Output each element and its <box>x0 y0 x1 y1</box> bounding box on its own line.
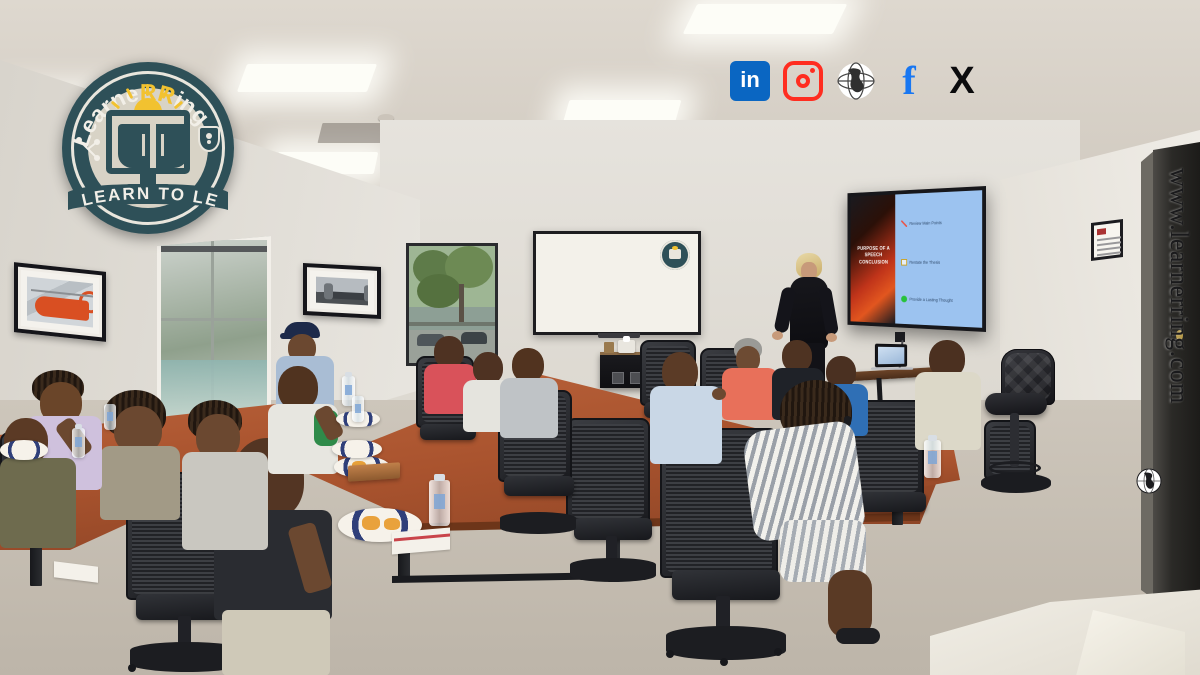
cabinet-bin <box>612 372 624 384</box>
stool-seat <box>985 393 1047 415</box>
bottle-cap <box>928 435 937 441</box>
network-node-icon <box>75 136 101 164</box>
stool-base <box>981 473 1051 493</box>
laptop[interactable] <box>871 344 911 372</box>
chair-base <box>500 512 576 534</box>
monitor-book-icon <box>106 110 190 174</box>
water-bottle <box>72 428 85 458</box>
presentation-display[interactable]: PURPOSE OF A SPEECH CONCLUSION Review Ma… <box>847 186 986 332</box>
bottle-cap <box>345 372 352 377</box>
sun-ray <box>146 84 149 96</box>
student <box>650 352 722 462</box>
tissue-box <box>618 340 635 353</box>
website-url-watermark: www.learnerring.com <box>1164 168 1194 404</box>
social-icon-bar: in f X <box>730 55 982 107</box>
svg-text:LEARN TO LEAD: LEARN TO LEAD <box>68 170 221 211</box>
bottle-cap <box>75 424 82 429</box>
document-icon <box>901 259 907 266</box>
x-icon[interactable]: X <box>942 61 982 101</box>
food-item <box>362 516 380 530</box>
student <box>0 418 78 548</box>
food-item <box>384 518 400 530</box>
instagram-icon[interactable] <box>783 61 823 101</box>
logo-tagline: LEARN TO LEAD <box>68 170 221 211</box>
water-bottle <box>104 404 116 430</box>
logo-banner: LEARN TO LEAD <box>68 170 228 222</box>
laptop-screen <box>875 344 907 368</box>
paper-plate <box>332 440 382 458</box>
tree-trunk <box>459 284 464 324</box>
slide-title: PURPOSE OF A SPEECH CONCLUSION <box>854 246 894 266</box>
water-bottle <box>429 480 450 526</box>
slide-bullet: Review Main Points <box>901 218 980 227</box>
torso <box>915 372 981 450</box>
shorts <box>222 610 330 675</box>
laptop-keyboard <box>871 367 914 369</box>
globe-icon <box>1136 468 1162 494</box>
framed-certificate <box>1091 219 1123 261</box>
torso <box>182 452 268 550</box>
framed-photo-helicopter <box>14 262 106 342</box>
classroom-event-photo: PURPOSE OF A SPEECH CONCLUSION Review Ma… <box>0 0 1200 675</box>
chair-caster <box>774 648 782 656</box>
bottle-cap <box>434 474 445 481</box>
globe-icon[interactable] <box>836 61 876 101</box>
water-bottle <box>924 440 941 478</box>
chair-base <box>570 558 656 582</box>
ceiling-light-panel <box>683 4 848 34</box>
shield-icon <box>198 126 220 152</box>
presenter-hand-right <box>826 333 837 342</box>
torso <box>500 378 558 438</box>
stool-cylinder <box>1010 413 1019 467</box>
checkmark-icon <box>901 220 907 227</box>
linkedin-icon[interactable]: in <box>730 61 770 101</box>
framed-photo-osprey <box>303 263 381 319</box>
student <box>500 348 558 438</box>
slide-bullet: Restate the Thesis <box>901 259 980 266</box>
slide-bullet: Provide a Lasting Thought <box>901 295 980 304</box>
chair-caster <box>128 664 136 672</box>
green-dot-icon <box>901 295 907 302</box>
ceiling-light-panel <box>237 64 377 92</box>
chair-seat <box>504 476 574 496</box>
pencil-cup <box>604 342 614 353</box>
facebook-icon[interactable]: f <box>889 61 929 101</box>
chair-caster <box>666 650 674 658</box>
hand <box>712 388 726 400</box>
tree-foliage <box>417 274 461 308</box>
head <box>512 348 544 382</box>
chair-caster <box>720 658 728 666</box>
student <box>915 340 981 450</box>
student <box>740 380 870 640</box>
slide-title-panel: PURPOSE OF A SPEECH CONCLUSION <box>851 195 895 324</box>
torso <box>100 446 180 520</box>
whiteboard-tray <box>598 333 640 338</box>
shoe <box>836 628 880 644</box>
paper-plate <box>0 440 48 460</box>
learnerring-logo: LearneRRing LEARN TO LEAD <box>62 62 234 234</box>
torso <box>0 458 76 548</box>
torso <box>650 386 722 464</box>
student <box>182 400 268 550</box>
whiteboard-logo-decal <box>660 240 690 270</box>
whiteboard <box>533 231 701 335</box>
slide-body-panel: Review Main Points Restate the Thesis Pr… <box>895 190 982 328</box>
drafting-stool <box>975 349 1057 524</box>
water-bottle <box>352 396 364 422</box>
student <box>268 366 338 474</box>
door-frame <box>1141 150 1155 605</box>
